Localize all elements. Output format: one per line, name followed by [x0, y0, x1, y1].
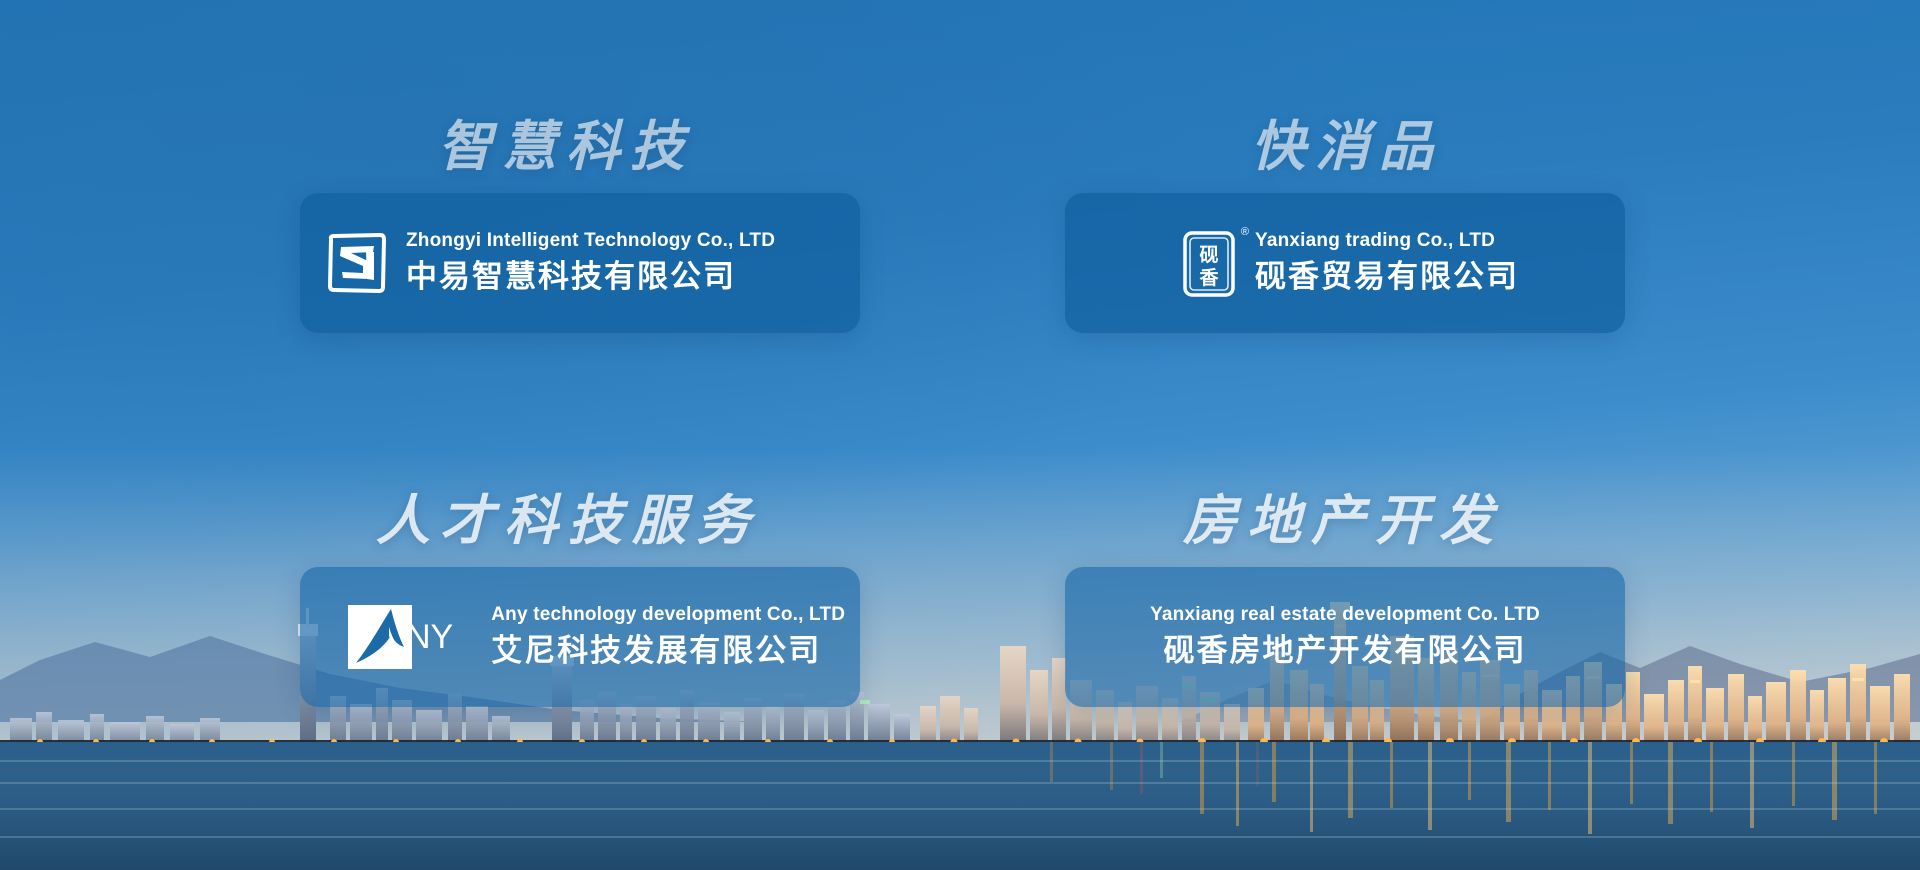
company-name-cn-yanxiang-real-estate: 砚香房地产开发有限公司 — [1164, 630, 1527, 672]
any-logo-text: NY — [406, 620, 453, 654]
svg-text:砚: 砚 — [1199, 244, 1218, 266]
company-name-cn-any: 艾尼科技发展有限公司 — [491, 630, 845, 672]
section-heading-real-estate: 房地产开发 — [1183, 492, 1625, 551]
company-name-en-zhongyi: Zhongyi Intelligent Technology Co., LTD — [406, 229, 775, 254]
company-name-en-yanxiang-real-estate: Yanxiang real estate development Co. LTD — [1150, 603, 1540, 628]
company-card-any[interactable]: NY Any technology development Co., LTD 艾… — [300, 567, 860, 707]
logo-wrap-any: NY — [348, 605, 453, 669]
section-talent-service: 人才科技服务 NY Any technology development Co.… — [300, 492, 860, 707]
company-name-en-yanxiang-trading: Yanxiang trading Co., LTD — [1255, 229, 1519, 254]
svg-text:香: 香 — [1198, 267, 1219, 289]
company-card-yanxiang-trading[interactable]: 砚 香 ® Yanxiang trading Co., LTD 砚香贸易有限公司 — [1065, 193, 1625, 333]
company-text-zhongyi: Zhongyi Intelligent Technology Co., LTD … — [406, 229, 775, 298]
logo-wrap-zhongyi — [326, 232, 388, 294]
section-heading-fmcg: 快消品 — [1251, 118, 1625, 177]
company-text-yanxiang-trading: Yanxiang trading Co., LTD 砚香贸易有限公司 — [1255, 229, 1519, 298]
company-card-zhongyi[interactable]: Zhongyi Intelligent Technology Co., LTD … — [300, 193, 860, 333]
hero-banner: 智慧科技 Zhongyi Intelligent Technology Co.,… — [0, 0, 1920, 870]
section-fmcg: 快消品 砚 香 ® Yanxiang trading Co., LTD — [1065, 118, 1625, 333]
company-name-en-any: Any technology development Co., LTD — [491, 603, 845, 628]
logo-wrap-yanxiang: 砚 香 ® — [1181, 228, 1237, 298]
section-heading-smart-technology: 智慧科技 — [438, 118, 860, 177]
section-smart-technology: 智慧科技 Zhongyi Intelligent Technology Co.,… — [300, 118, 860, 333]
registered-trademark-icon: ® — [1241, 226, 1249, 238]
company-card-yanxiang-real-estate[interactable]: Yanxiang real estate development Co. LTD… — [1065, 567, 1625, 707]
company-text-any: Any technology development Co., LTD 艾尼科技… — [491, 603, 845, 672]
company-name-cn-yanxiang-trading: 砚香贸易有限公司 — [1255, 256, 1519, 298]
company-name-cn-zhongyi: 中易智慧科技有限公司 — [406, 256, 775, 298]
company-text-yanxiang-real-estate: Yanxiang real estate development Co. LTD… — [1150, 603, 1540, 672]
any-mountain-logo — [348, 605, 412, 669]
yanxiang-seal-logo: 砚 香 ® — [1181, 228, 1237, 298]
zhongyi-seal-logo — [326, 232, 388, 294]
section-real-estate: 房地产开发 Yanxiang real estate development C… — [1065, 492, 1625, 707]
section-heading-talent-service: 人才科技服务 — [376, 492, 860, 551]
